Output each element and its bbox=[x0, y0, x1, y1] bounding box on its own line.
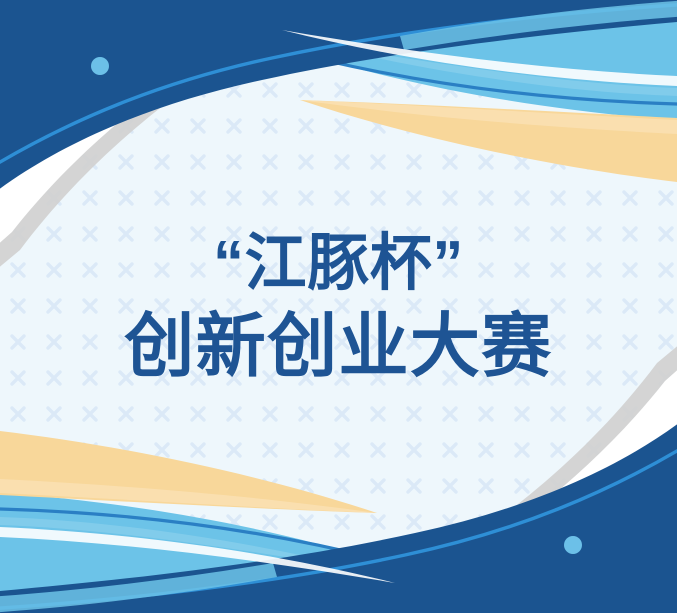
poster-canvas: “江豚杯” 创新创业大赛 bbox=[0, 0, 677, 613]
decorative-wave-background bbox=[0, 0, 677, 613]
bottom-right-accent-dot bbox=[564, 536, 582, 554]
top-left-accent-dot bbox=[91, 57, 109, 75]
